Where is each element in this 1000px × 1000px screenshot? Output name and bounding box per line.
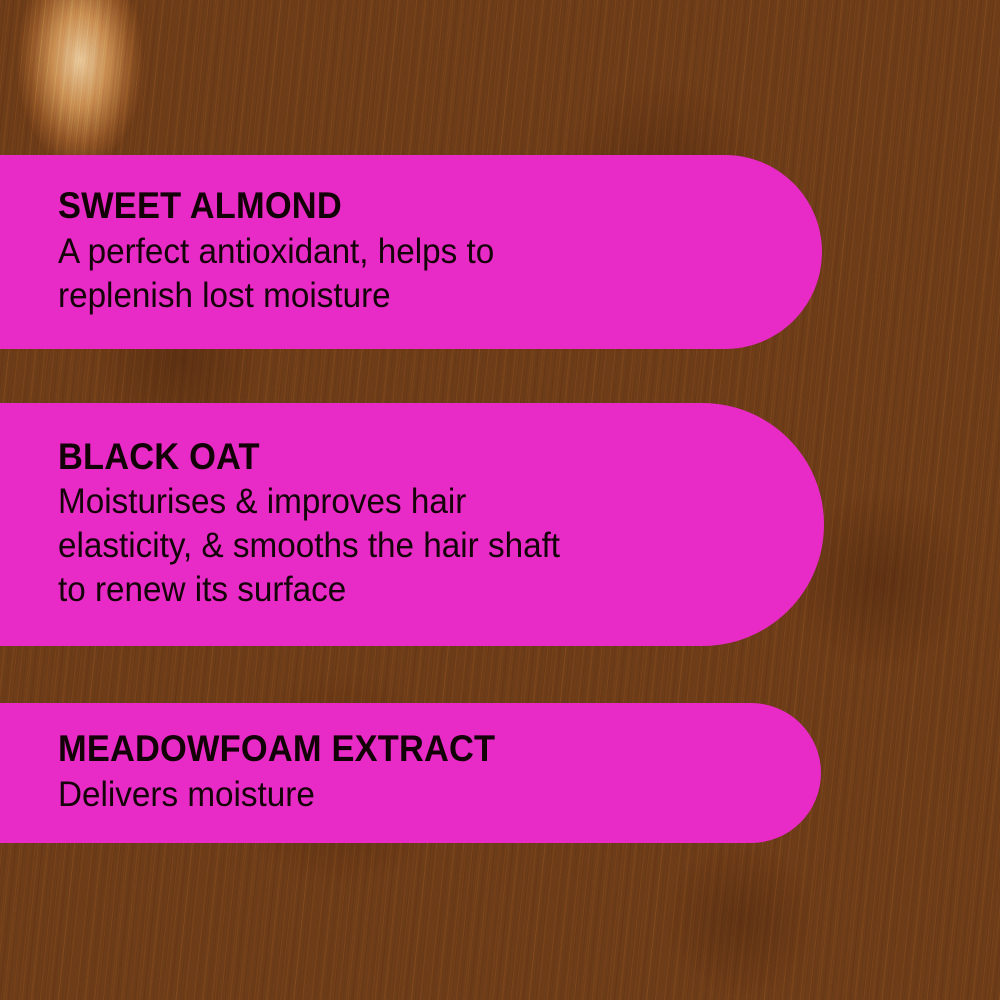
ingredient-title: SWEET ALMOND	[58, 186, 703, 225]
ingredient-description-line: to renew its surface	[58, 568, 719, 612]
ingredient-banner-meadowfoam-extract: MEADOWFOAM EXTRACT Delivers moisture	[0, 703, 821, 843]
ingredient-description-line: replenish lost moisture	[58, 274, 717, 318]
ingredient-description: Moisturises & improves hair elasticity, …	[58, 480, 719, 612]
ingredient-description: Delivers moisture	[58, 773, 716, 817]
ingredient-description-line: Moisturises & improves hair	[58, 480, 719, 524]
ingredient-description-line: Delivers moisture	[58, 773, 716, 817]
infographic-canvas: SWEET ALMOND A perfect antioxidant, help…	[0, 0, 1000, 1000]
ingredient-title: MEADOWFOAM EXTRACT	[58, 729, 702, 768]
ingredient-description-line: A perfect antioxidant, helps to	[58, 230, 717, 274]
ingredient-banner-black-oat: BLACK OAT Moisturises & improves hair el…	[0, 403, 824, 646]
ingredient-description: A perfect antioxidant, helps to replenis…	[58, 230, 717, 318]
ingredient-title: BLACK OAT	[58, 437, 705, 476]
ingredient-banner-sweet-almond: SWEET ALMOND A perfect antioxidant, help…	[0, 155, 822, 349]
ingredient-description-line: elasticity, & smooths the hair shaft	[58, 524, 719, 568]
